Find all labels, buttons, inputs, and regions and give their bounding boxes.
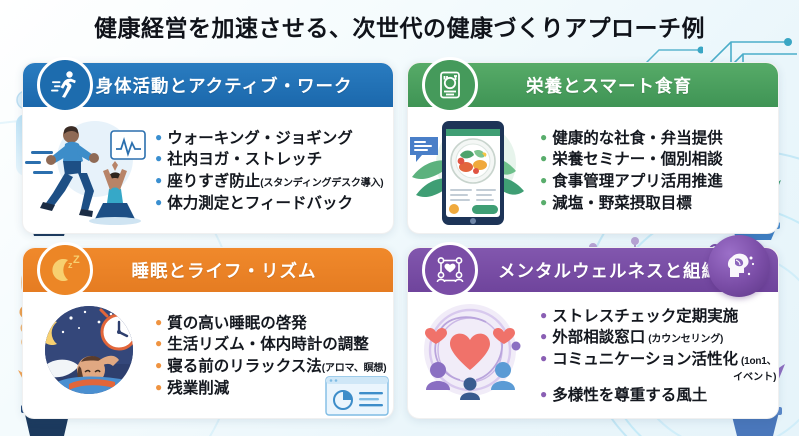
card-title-mental: メンタルウェルネスと組織 <box>456 258 730 283</box>
heart-people-network-illustration <box>408 292 538 418</box>
bullet-dot-icon: ● <box>540 309 547 321</box>
card-body-mental: ● ストレスチェック定期実施 ● 外部相談窓口(カウンセリング) ● コミュニケ… <box>408 292 778 418</box>
bullet-dot-icon: ● <box>540 352 547 364</box>
svg-text:Z: Z <box>73 254 80 266</box>
bullet-note: (スタンディングデスク導入) <box>260 177 383 191</box>
bullet-dot-icon: ● <box>540 196 547 208</box>
bullet-dot-icon: ● <box>155 131 162 143</box>
list-item: ● 外部相談窓口(カウンセリング) <box>540 327 776 349</box>
list-item: ● 多様性を尊重する風土 <box>540 385 776 407</box>
brain-head-icon <box>708 235 770 297</box>
list-item: ● 体力測定とフィードバック <box>155 193 385 215</box>
bullet-dot-icon: ● <box>155 174 162 186</box>
list-item: ● 社内ヨガ・ストレッチ <box>155 149 385 171</box>
card-mental-wellness[interactable]: メンタルウェルネスと組織 <box>407 247 779 419</box>
card-title-physical-activity: 身体活動とアクティブ・ワーク <box>53 73 362 98</box>
bullet-text: 残業削減 <box>167 378 229 400</box>
card-body-nutrition: ● 健康的な社食・弁当提供 ● 栄養セミナー・個別相談 ● 食事管理アプリ活用推… <box>408 107 778 233</box>
list-item: ● ウォーキング・ジョギング <box>155 128 385 150</box>
bullet-note: (1on1、 <box>741 356 776 367</box>
card-body-physical-activity: ● ウォーキング・ジョギング ● 社内ヨガ・ストレッチ ● 座りすぎ防止(スタン… <box>23 107 393 233</box>
list-item: ● 健康的な社食・弁当提供 <box>540 128 770 150</box>
bullet-text: 生活リズム・体内時計の調整 <box>167 334 369 356</box>
bullet-note: (カウンセリング) <box>648 333 723 347</box>
bullet-text: 減塩・野菜摂取目標 <box>552 193 692 215</box>
bullet-note-second-line: イベント) <box>552 371 776 385</box>
bullet-dot-icon: ● <box>540 330 547 342</box>
tablet-meal-icon <box>422 57 478 113</box>
dashboard-screen-decoration <box>325 376 389 416</box>
card-physical-activity[interactable]: 身体活動とアクティブ・ワーク <box>22 62 394 234</box>
bullet-text: 外部相談窓口 <box>552 327 645 349</box>
bullet-text: 多様性を尊重する風土 <box>552 385 707 407</box>
people-heart-network-icon <box>422 242 478 298</box>
card-title-nutrition: 栄養とスマート食育 <box>484 73 702 98</box>
bullet-text: 質の高い睡眠の啓発 <box>167 313 307 335</box>
bullet-text: ストレスチェック定期実施 <box>552 306 738 328</box>
card-body-sleep: ● 質の高い睡眠の啓発 ● 生活リズム・体内時計の調整 ● 寝る前のリラックス法… <box>23 292 393 418</box>
list-item: ● 栄養セミナー・個別相談 <box>540 149 770 171</box>
card-sleep-life-rhythm[interactable]: 睡眠とライフ・リズム z Z <box>22 247 394 419</box>
bullet-dot-icon: ● <box>155 316 162 328</box>
bullet-list-nutrition: ● 健康的な社食・弁当提供 ● 栄養セミナー・個別相談 ● 食事管理アプリ活用推… <box>538 107 778 233</box>
bullet-dot-icon: ● <box>540 131 547 143</box>
card-grid: 身体活動とアクティブ・ワーク <box>22 62 779 424</box>
bullet-text: 社内ヨガ・ストレッチ <box>167 149 322 171</box>
bullet-list-physical-activity: ● ウォーキング・ジョギング ● 社内ヨガ・ストレッチ ● 座りすぎ防止(スタン… <box>153 107 393 233</box>
moon-zzz-icon: z Z <box>37 242 93 298</box>
bullet-dot-icon: ● <box>155 337 162 349</box>
card-nutrition[interactable]: 栄養とスマート食育 <box>407 62 779 234</box>
sleeping-person-illustration <box>23 292 153 418</box>
list-item: ● 減塩・野菜摂取目標 <box>540 193 770 215</box>
bullet-text: ウォーキング・ジョギング <box>167 128 353 150</box>
tablet-healthy-plate-illustration <box>408 107 538 233</box>
list-item: ● 食事管理アプリ活用推進 <box>540 171 770 193</box>
list-item: ● 質の高い睡眠の啓発 <box>155 313 386 335</box>
page-title: 健康経営を加速させる、次世代の健康づくりアプローチ例 <box>0 9 799 43</box>
bullet-dot-icon: ● <box>155 381 162 393</box>
bullet-text: 座りすぎ防止 <box>167 171 260 193</box>
bullet-text: コミュニケーション活性化 <box>552 351 738 368</box>
runner-and-yoga-illustration <box>23 107 153 233</box>
list-item: ● 生活リズム・体内時計の調整 <box>155 334 386 356</box>
bullet-note: (アロマ、瞑想) <box>322 362 387 376</box>
bullet-text: 寝る前のリラックス法 <box>167 356 322 378</box>
bullet-text: 食事管理アプリ活用推進 <box>552 171 723 193</box>
list-item: ● 座りすぎ防止(スタンディングデスク導入) <box>155 171 385 193</box>
bullet-dot-icon: ● <box>540 174 547 186</box>
bullet-dot-icon: ● <box>155 152 162 164</box>
list-item: ● ストレスチェック定期実施 <box>540 306 776 328</box>
bullet-dot-icon: ● <box>540 152 547 164</box>
bullet-text: 栄養セミナー・個別相談 <box>552 149 723 171</box>
bullet-dot-icon: ● <box>155 196 162 208</box>
bullet-dot-icon: ● <box>540 388 547 400</box>
list-item: ● 寝る前のリラックス法(アロマ、瞑想) <box>155 356 386 378</box>
card-title-sleep: 睡眠とライフ・リズム <box>90 258 327 283</box>
bullet-list-mental: ● ストレスチェック定期実施 ● 外部相談窓口(カウンセリング) ● コミュニケ… <box>538 292 784 418</box>
bullet-text: 体力測定とフィードバック <box>167 193 353 215</box>
running-person-icon <box>37 57 93 113</box>
list-item: ● コミュニケーション活性化(1on1、 イベント) <box>540 349 776 385</box>
bullet-text: 健康的な社食・弁当提供 <box>552 128 723 150</box>
bullet-dot-icon: ● <box>155 359 162 371</box>
